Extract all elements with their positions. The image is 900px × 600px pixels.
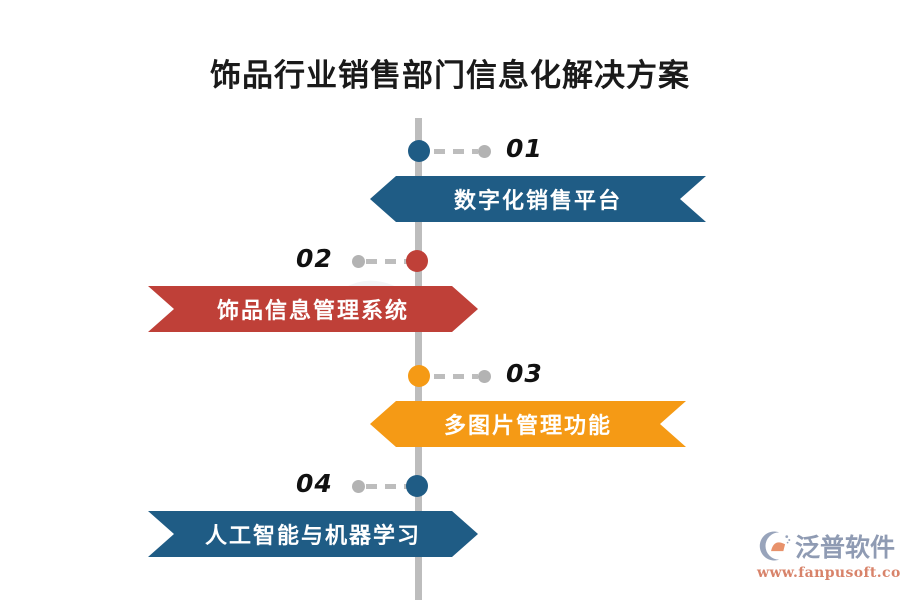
fanpu-fan-icon — [757, 529, 791, 563]
timeline-dot-04[interactable] — [406, 475, 428, 497]
connector-04: 04 — [296, 475, 428, 497]
banner-label-02: 饰品信息管理系统 — [217, 293, 409, 325]
timeline-dot-01[interactable] — [408, 140, 430, 162]
page-title: 饰品行业销售部门信息化解决方案 — [0, 50, 900, 95]
connector-01: 01 — [408, 140, 528, 162]
connector-endcap-02 — [352, 255, 365, 268]
banner-label-01: 数字化销售平台 — [454, 183, 622, 215]
timeline-dot-02[interactable] — [406, 250, 428, 272]
step-number-01: 01 — [506, 134, 543, 163]
banner-02[interactable]: 饰品信息管理系统 — [148, 286, 478, 332]
logo-row: 泛普软件 — [757, 528, 897, 564]
step-number-02: 02 — [296, 244, 333, 273]
connector-dashes-01 — [434, 149, 478, 154]
banner-04[interactable]: 人工智能与机器学习 — [148, 511, 478, 557]
connector-dashes-03 — [434, 374, 478, 379]
logo-url: www.fanpusoft.com — [757, 565, 897, 581]
connector-endcap-01 — [478, 145, 491, 158]
connector-dashes-02 — [366, 259, 408, 264]
infographic-canvas: 饰品行业销售部门信息化解决方案 01 数字化销售平台 02 饰品信息管理系统 — [0, 0, 900, 600]
connector-endcap-04 — [352, 480, 365, 493]
banner-label-04: 人工智能与机器学习 — [205, 518, 421, 550]
connector-02: 02 — [296, 250, 428, 272]
banner-01[interactable]: 数字化销售平台 — [370, 176, 706, 222]
connector-03: 03 — [408, 365, 528, 387]
banner-03[interactable]: 多图片管理功能 — [370, 401, 686, 447]
timeline-dot-03[interactable] — [408, 365, 430, 387]
connector-endcap-03 — [478, 370, 491, 383]
logo-name: 泛普软件 — [795, 528, 895, 564]
step-number-03: 03 — [506, 359, 543, 388]
step-number-04: 04 — [296, 469, 333, 498]
connector-dashes-04 — [366, 484, 408, 489]
banner-label-03: 多图片管理功能 — [444, 408, 612, 440]
brand-logo[interactable]: 泛普软件 www.fanpusoft.com — [757, 528, 897, 590]
